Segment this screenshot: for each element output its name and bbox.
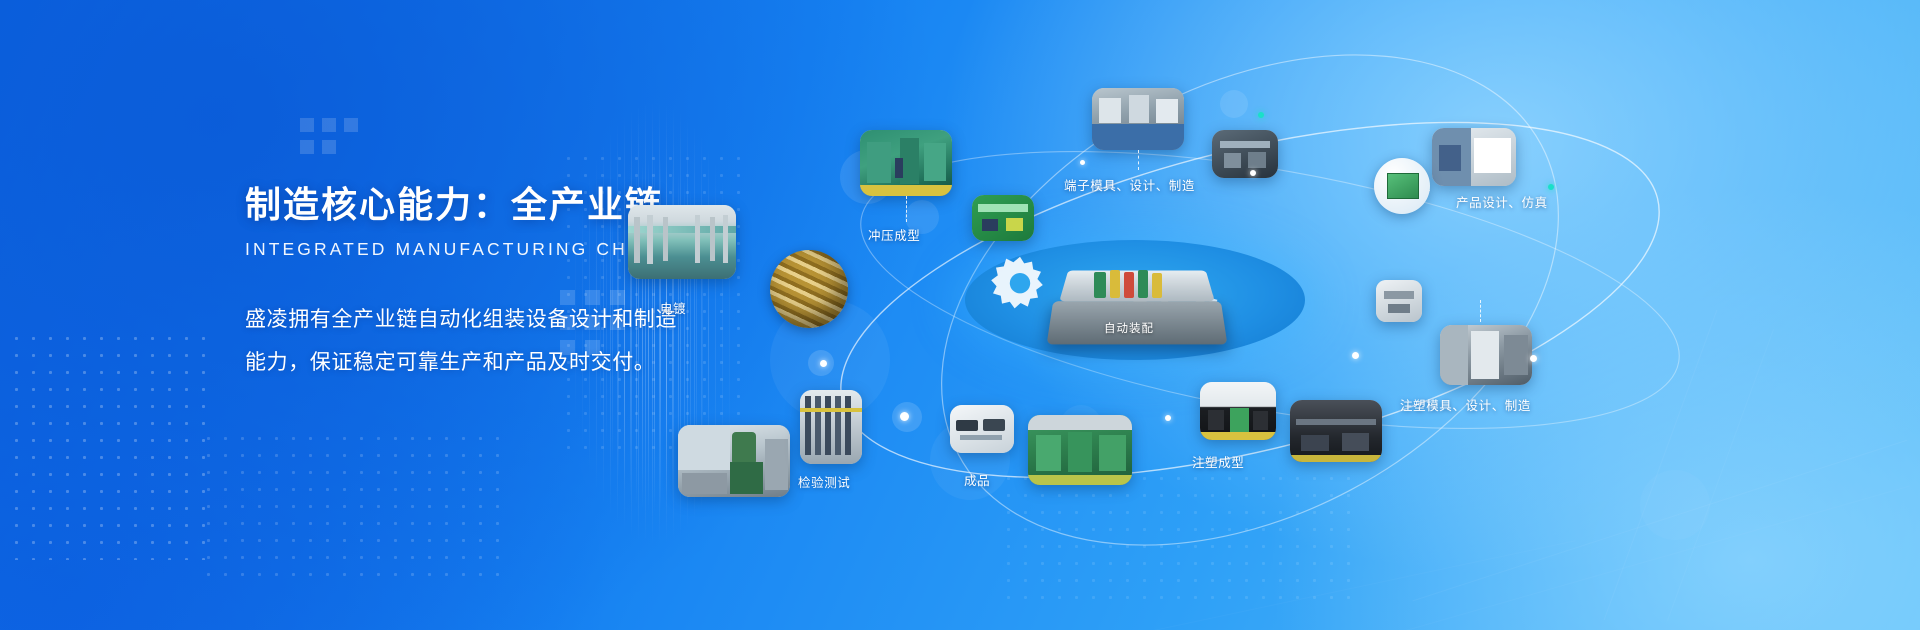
injection-forming-photo xyxy=(1200,382,1276,440)
test-rack-thumbnail[interactable] xyxy=(800,390,862,464)
orbit-dot xyxy=(1165,415,1171,421)
square-block xyxy=(300,140,314,154)
cad-design-photo xyxy=(1432,128,1516,186)
injection-mold-label: 注塑模具、设计、制造 xyxy=(1400,395,1531,414)
finished-product-label: 成品 xyxy=(964,470,990,489)
injection-forming-thumbnail[interactable] xyxy=(1200,382,1276,440)
square-block xyxy=(322,140,336,154)
coil-decoration xyxy=(770,250,848,328)
orbit-dot xyxy=(1352,352,1359,359)
injection-mold-thumbnail[interactable] xyxy=(1440,325,1532,385)
orbit-dot-accent xyxy=(1258,112,1264,118)
stamping-machine-photo xyxy=(860,130,952,196)
inspection-thumbnail[interactable] xyxy=(678,425,790,497)
product-design-label: 产品设计、仿真 xyxy=(1456,192,1548,211)
green-cube-node[interactable] xyxy=(1374,158,1430,214)
orbit-dot xyxy=(1080,160,1085,165)
dot-grid-lower xyxy=(200,430,500,580)
conveyor-thumbnail[interactable] xyxy=(1290,400,1382,462)
mold-machine-thumbnail[interactable] xyxy=(1212,130,1278,178)
gear-icon xyxy=(990,252,1050,312)
finished-product-thumbnail[interactable] xyxy=(950,405,1014,453)
conveyor-line-photo xyxy=(1290,400,1382,462)
assembly-machine: 自动装配 xyxy=(1042,258,1232,350)
dot-grid-left xyxy=(8,330,208,560)
electroplating-thumbnail[interactable] xyxy=(628,205,736,279)
terminal-mold-photo xyxy=(1092,88,1184,150)
manufacturing-chain-diagram: 自动装配 电镀 xyxy=(780,0,1920,630)
terminal-mold-label: 端子模具、设计、制造 xyxy=(1064,175,1195,194)
orbit-dot xyxy=(1250,170,1256,176)
assembly-line-photo xyxy=(1028,415,1132,485)
inspection-lab-photo xyxy=(678,425,790,497)
manufacturing-banner: 制造核心能力：全产业链 INTEGRATED MANUFACTURING CHA… xyxy=(0,0,1920,630)
pcb-thumbnail[interactable] xyxy=(972,195,1034,241)
banner-paragraph: 盛凌拥有全产业链自动化组装设备设计和制造能力，保证稳定可靠生产和产品及时交付。 xyxy=(245,298,695,384)
terminal-mold-connector xyxy=(1138,150,1139,170)
injection-mold-connector xyxy=(1480,300,1481,322)
electroplating-label: 电镀 xyxy=(660,298,686,317)
injection-mold-photo xyxy=(1440,325,1532,385)
pcb-board-photo xyxy=(972,195,1034,241)
glow-ball xyxy=(808,350,834,376)
connector-product-photo xyxy=(950,405,1014,453)
stamping-thumbnail[interactable] xyxy=(860,130,952,196)
square-block xyxy=(300,118,314,132)
small-mold-photo xyxy=(1376,280,1422,322)
product-design-thumbnail[interactable] xyxy=(1432,128,1516,186)
assembly-line-thumbnail[interactable] xyxy=(1028,415,1132,485)
inspection-label: 检验测试 xyxy=(798,472,850,491)
mold-machine-photo xyxy=(1212,130,1278,178)
orbit-dot xyxy=(1530,355,1537,362)
injection-forming-label: 注塑成型 xyxy=(1192,452,1244,471)
square-block xyxy=(322,118,336,132)
plating-line-photo xyxy=(628,205,736,279)
stamping-connector xyxy=(906,196,907,222)
terminal-mold-thumbnail[interactable] xyxy=(1092,88,1184,150)
center-label: 自动装配 xyxy=(1104,320,1154,336)
test-rack-photo xyxy=(800,390,862,464)
glow-ball xyxy=(892,402,922,432)
green-cube-icon xyxy=(1387,173,1419,199)
stamping-label: 冲压成型 xyxy=(868,225,920,244)
mold-icon-thumbnail[interactable] xyxy=(1376,280,1422,322)
orbit-paths xyxy=(780,0,1920,630)
orbit-dot-accent xyxy=(1548,184,1554,190)
square-block xyxy=(344,118,358,132)
